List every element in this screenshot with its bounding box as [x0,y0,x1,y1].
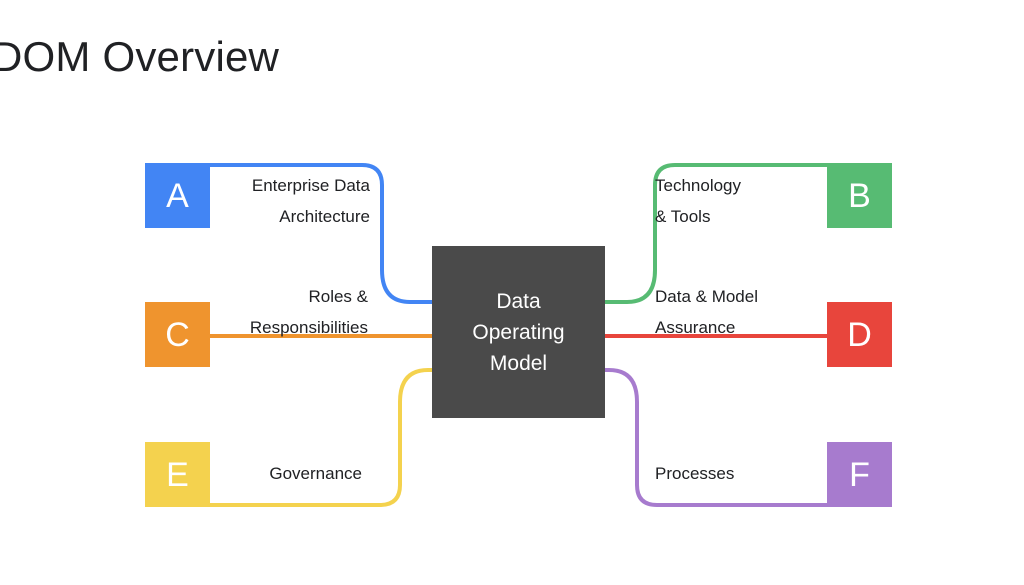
slide-canvas: DOM Overview Data Operating Model A B C … [0,0,1024,585]
node-caption-a: Enterprise Data Architecture [150,170,370,232]
node-caption-b: Technology & Tools [655,170,875,232]
node-caption-f: Processes [655,458,875,489]
node-caption-e: Governance [148,458,362,489]
node-caption-d: Data & Model Assurance [655,281,875,343]
center-node[interactable]: Data Operating Model [432,246,605,418]
node-caption-c: Roles & Responsibilities [148,281,368,343]
center-node-label: Data Operating Model [449,286,589,379]
